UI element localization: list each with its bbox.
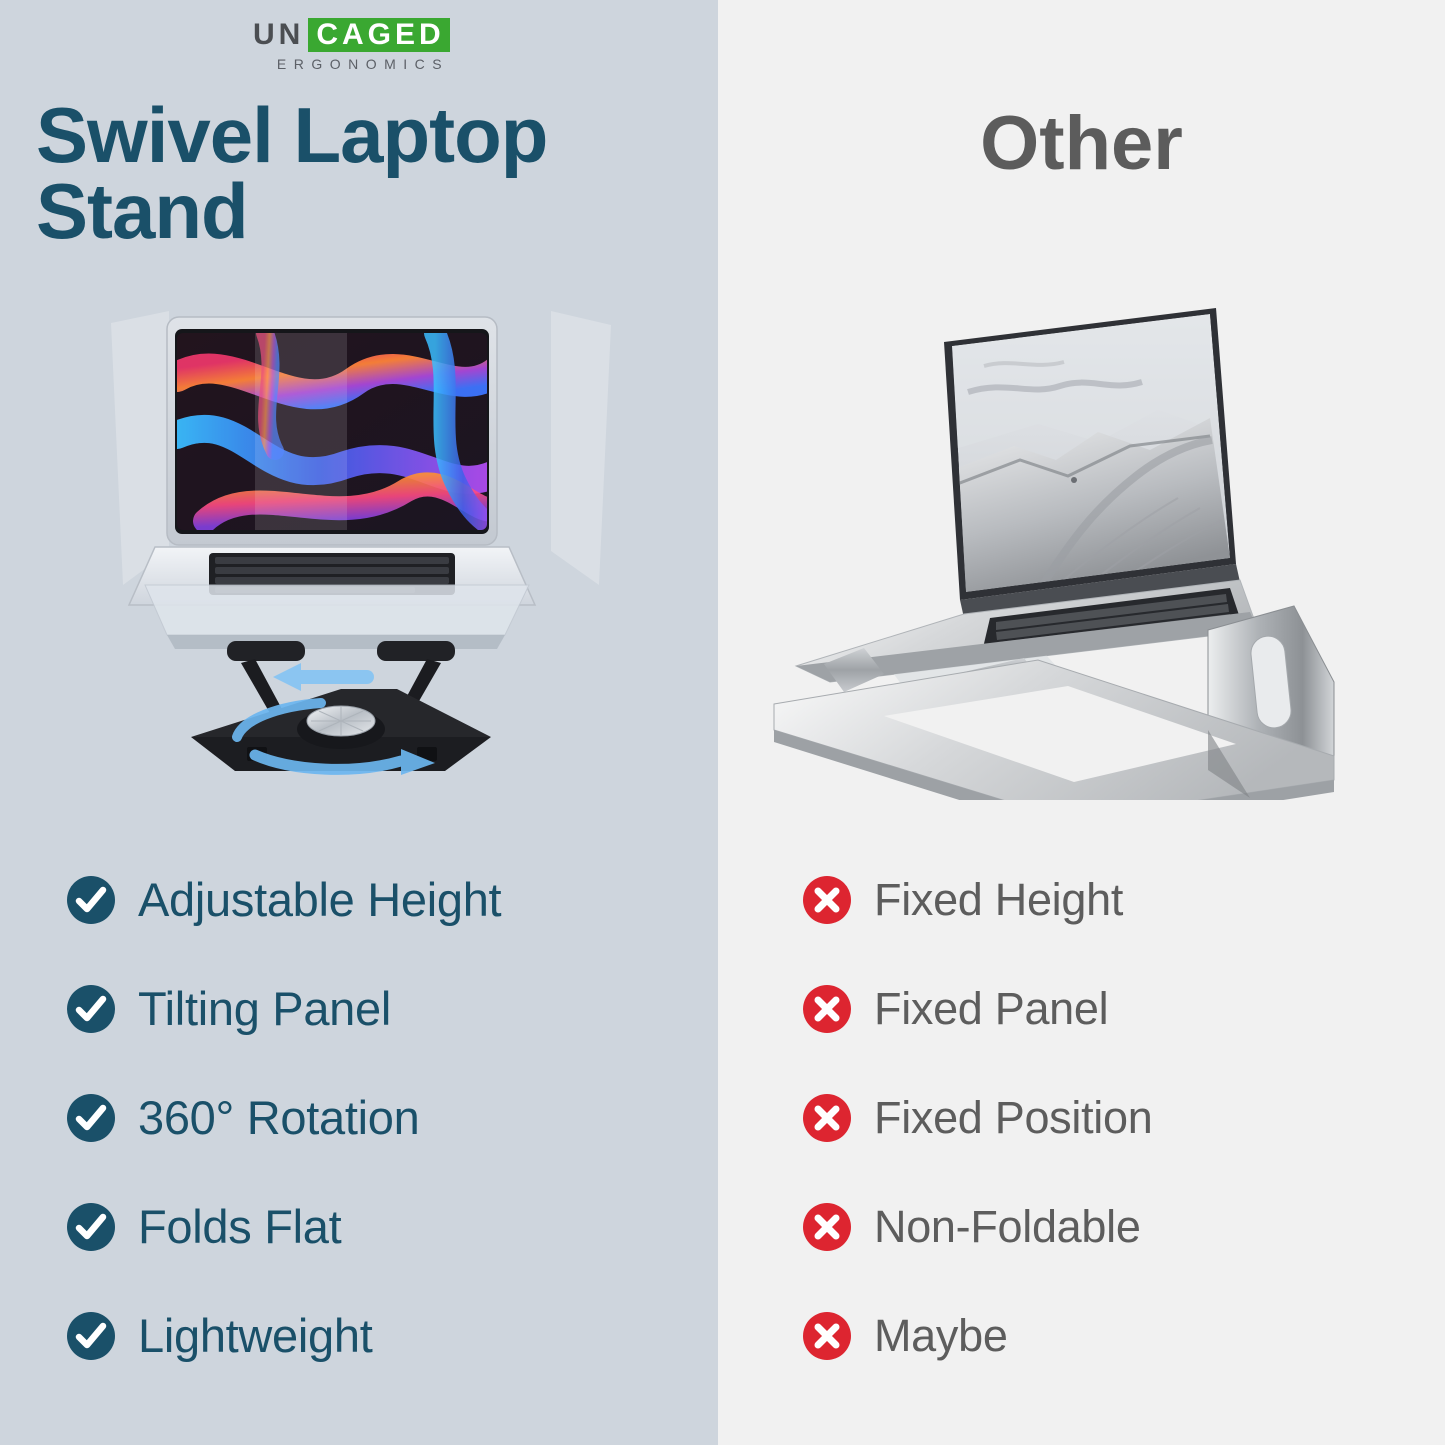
feature-row: Fixed Position: [802, 1063, 1422, 1172]
right-panel-other-stand: Other: [718, 0, 1445, 1445]
support-arm-left: [227, 641, 305, 661]
feature-row: Lightweight: [66, 1281, 706, 1390]
logo-text-caged: CAGED: [308, 18, 449, 52]
feature-label: Fixed Panel: [874, 983, 1108, 1035]
feature-row: Adjustable Height: [66, 845, 706, 954]
feature-label: Folds Flat: [138, 1199, 341, 1254]
feature-label: Adjustable Height: [138, 872, 501, 927]
left-panel-swivel-stand: UN CAGED ERGONOMICS Swivel Laptop Stand: [0, 0, 718, 1445]
feature-label: Fixed Position: [874, 1092, 1152, 1144]
tilting-panel: [145, 585, 529, 635]
feature-label: Tilting Panel: [138, 981, 391, 1036]
logo-text-un: UN: [253, 18, 308, 52]
x-icon: [802, 1311, 852, 1361]
other-stand-svg: [738, 300, 1438, 800]
logo-wordmark: UN CAGED: [253, 18, 473, 52]
check-icon: [66, 1311, 116, 1361]
feature-label: Non-Foldable: [874, 1201, 1141, 1253]
x-icon: [802, 984, 852, 1034]
other-stand-illustration: [738, 300, 1438, 800]
feature-row: Folds Flat: [66, 1172, 706, 1281]
feature-row: 360° Rotation: [66, 1063, 706, 1172]
feature-row: Maybe: [802, 1281, 1422, 1390]
check-icon: [66, 875, 116, 925]
check-icon: [66, 984, 116, 1034]
brand-logo: UN CAGED ERGONOMICS: [253, 18, 473, 72]
feature-row: Tilting Panel: [66, 954, 706, 1063]
right-panel-title: Other: [718, 100, 1445, 187]
x-icon: [802, 1202, 852, 1252]
swivel-stand-illustration: [105, 285, 625, 785]
left-feature-list: Adjustable Height Tilting Panel 360° Rot…: [66, 845, 706, 1390]
swivel-stand-svg: [105, 285, 625, 785]
comparison-infographic: UN CAGED ERGONOMICS Swivel Laptop Stand: [0, 0, 1445, 1445]
feature-label: 360° Rotation: [138, 1090, 419, 1145]
x-icon: [802, 875, 852, 925]
feature-label: Maybe: [874, 1310, 1008, 1362]
feature-label: Fixed Height: [874, 874, 1123, 926]
left-panel-title: Swivel Laptop Stand: [36, 98, 696, 249]
feature-row: Non-Foldable: [802, 1172, 1422, 1281]
check-icon: [66, 1202, 116, 1252]
right-feature-list: Fixed Height Fixed Panel Fixed Position …: [802, 845, 1422, 1390]
feature-label: Lightweight: [138, 1308, 372, 1363]
check-icon: [66, 1093, 116, 1143]
x-icon: [802, 1093, 852, 1143]
other-screen-wallpaper: [952, 314, 1230, 594]
feature-row: Fixed Height: [802, 845, 1422, 954]
logo-tagline: ERGONOMICS: [253, 56, 473, 72]
screen-wallpaper: [177, 333, 497, 530]
support-arm-right: [377, 641, 455, 661]
feature-row: Fixed Panel: [802, 954, 1422, 1063]
